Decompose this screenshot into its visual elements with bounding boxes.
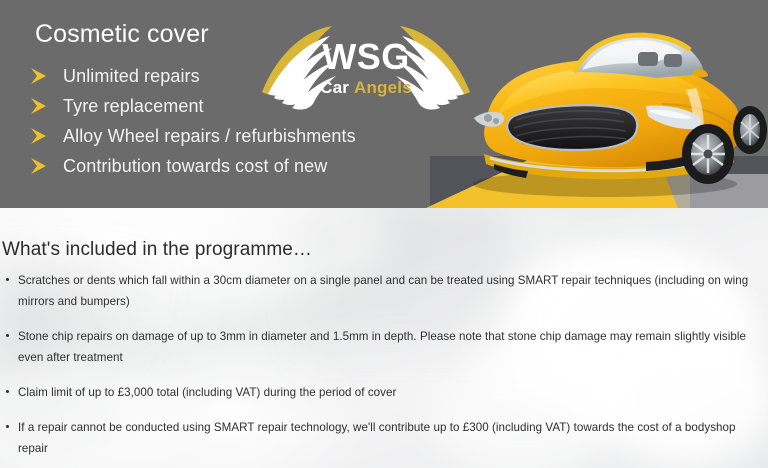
cosmetic-cover-page: Cosmetic cover Unlimited repairs Tyre re… [0, 0, 768, 468]
hero-feature-item: Contribution towards cost of new [30, 152, 356, 180]
list-item-text: If a repair cannot be conducted using SM… [18, 421, 736, 455]
bullet-dot-icon [6, 425, 9, 428]
hero-feature-label: Contribution towards cost of new [63, 156, 327, 177]
hero-banner: Cosmetic cover Unlimited repairs Tyre re… [0, 0, 768, 208]
list-item: Claim limit of up to £3,000 total (inclu… [4, 382, 764, 403]
programme-bullet-list: Scratches or dents which fall within a 3… [4, 270, 764, 468]
arrow-right-icon [30, 127, 54, 145]
list-item-text: Stone chip repairs on damage of up to 3m… [18, 330, 746, 364]
rear-wheel [733, 106, 767, 154]
bullet-dot-icon [6, 278, 9, 281]
programme-details-section: What's included in the programme… Scratc… [0, 208, 768, 468]
list-item: Scratches or dents which fall within a 3… [4, 270, 758, 312]
list-item-text: Claim limit of up to £3,000 total (inclu… [18, 386, 396, 399]
angel-wings-icon [258, 22, 474, 114]
front-wheel [682, 124, 734, 184]
hero-feature-item: Alloy Wheel repairs / refurbishments [30, 122, 356, 150]
list-item-text: Scratches or dents which fall within a 3… [18, 274, 748, 308]
arrow-right-icon [30, 157, 54, 175]
arrow-right-icon [30, 67, 54, 85]
hero-title: Cosmetic cover [35, 20, 209, 49]
arrow-right-icon [30, 97, 54, 115]
wsg-car-angels-logo: WSG Car Angels [258, 22, 474, 114]
list-item: If a repair cannot be conducted using SM… [4, 417, 754, 459]
bullet-dot-icon [6, 390, 9, 393]
section-title: What's included in the programme… [2, 239, 312, 261]
hero-feature-label: Tyre replacement [63, 96, 204, 117]
hero-feature-label: Unlimited repairs [63, 66, 200, 87]
hero-feature-label: Alloy Wheel repairs / refurbishments [63, 126, 356, 147]
bullet-dot-icon [6, 334, 9, 337]
list-item: Stone chip repairs on damage of up to 3m… [4, 326, 768, 368]
yellow-convertible-car [450, 12, 768, 202]
